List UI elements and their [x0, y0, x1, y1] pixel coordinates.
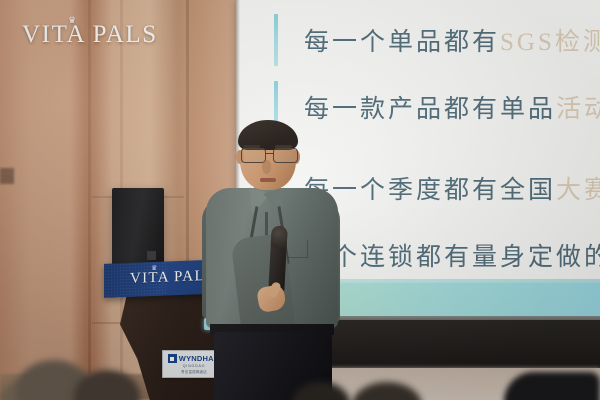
speaker-person — [196, 116, 346, 400]
slide-line-4-base: 一个连锁都有量身定做的 — [304, 244, 600, 271]
presentation-photo: 每一个单品都有SGS检测报告 每一款产品都有单品活动 每一个季度都有全国大赛 一… — [0, 0, 600, 400]
brand-watermark-label: VITA PALS — [22, 22, 158, 47]
glasses-lens-right — [273, 148, 298, 163]
brand-watermark: ♛ VITA PALS — [22, 22, 158, 47]
loudspeaker-port-icon — [147, 251, 156, 260]
slide-line-1-highlight: SGS检测报告 — [500, 29, 600, 56]
slide-line-2-highlight: 活动 — [556, 96, 600, 123]
slide-line-2-text: 每一款产品都有单品活动 — [304, 89, 600, 125]
speaker-nose — [262, 160, 271, 174]
stage-loudspeaker — [112, 188, 164, 268]
accent-bar-icon — [274, 14, 278, 66]
crown-icon: ♛ — [151, 264, 157, 272]
slide-line-1: 每一个单品都有SGS检测报告 — [274, 14, 600, 66]
glasses-icon — [240, 148, 298, 161]
glasses-bridge — [265, 153, 274, 154]
crown-icon: ♛ — [68, 15, 76, 26]
slide-line-3-text: 每一个季度都有全国大赛 — [304, 170, 600, 206]
speaker-mouth — [260, 178, 276, 182]
audience-shoulder — [504, 372, 600, 400]
slide-line-1-text: 每一个单品都有SGS检测报告 — [304, 22, 600, 58]
microphone-head — [271, 226, 288, 249]
wyndham-logo-icon — [168, 354, 177, 363]
slide-line-4-text: 一个连锁都有量身定做的 — [304, 237, 600, 273]
slide-line-3-highlight: 大赛 — [556, 177, 600, 204]
slide-line-1-base: 每一个单品都有 — [304, 29, 500, 56]
